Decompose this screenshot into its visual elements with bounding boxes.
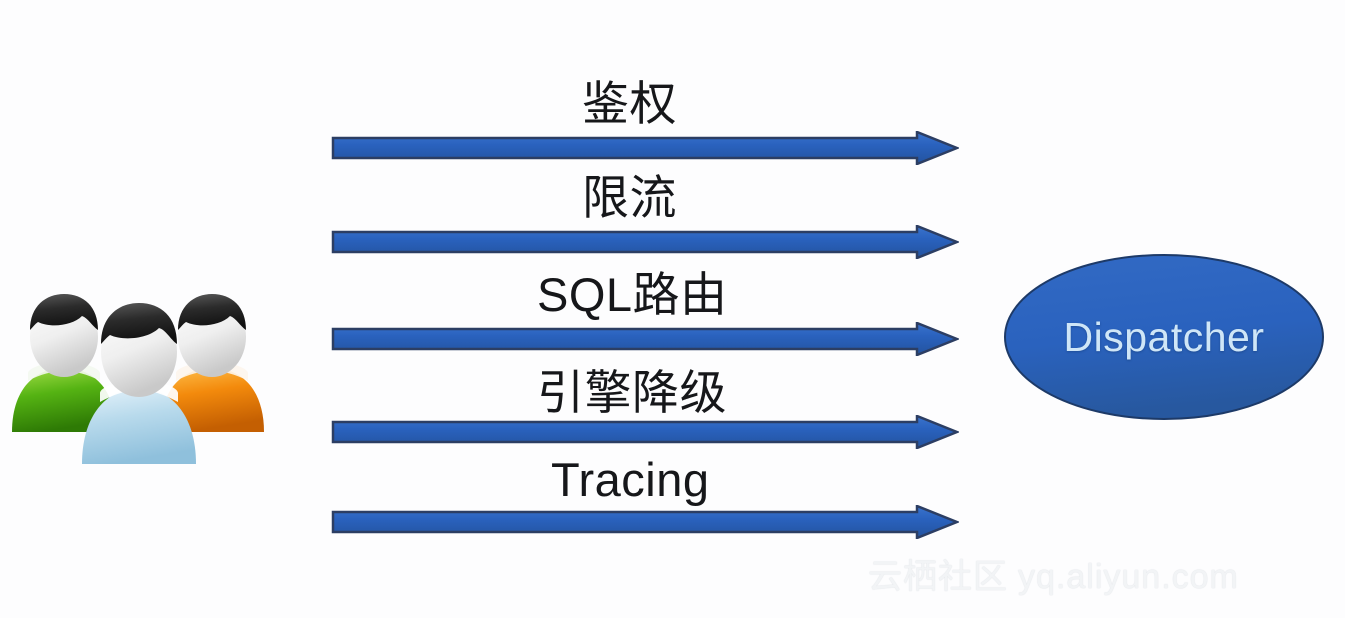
arrow-right-icon [331, 415, 959, 449]
diagram-canvas: 鉴权 限流 SQL路由 [0, 0, 1345, 618]
dispatcher-node[interactable]: Dispatcher [1003, 253, 1325, 421]
watermark: 云栖社区yq.aliyun.com [868, 560, 1239, 594]
watermark-site-name: 云栖社区 [868, 558, 1008, 596]
watermark-site-url: yq.aliyun.com [1018, 558, 1239, 596]
flow-label: Tracing [551, 456, 709, 503]
flow-label: 限流 [582, 174, 677, 221]
arrow-right-icon [331, 505, 959, 539]
arrow-right-icon [331, 322, 959, 356]
arrow-right-icon [331, 131, 959, 165]
flow-label: 引擎降级 [537, 369, 727, 416]
flow-label: SQL路由 [537, 271, 728, 318]
flow-label: 鉴权 [582, 80, 677, 127]
arrow-right-icon [331, 225, 959, 259]
users-group-icon [8, 282, 270, 464]
